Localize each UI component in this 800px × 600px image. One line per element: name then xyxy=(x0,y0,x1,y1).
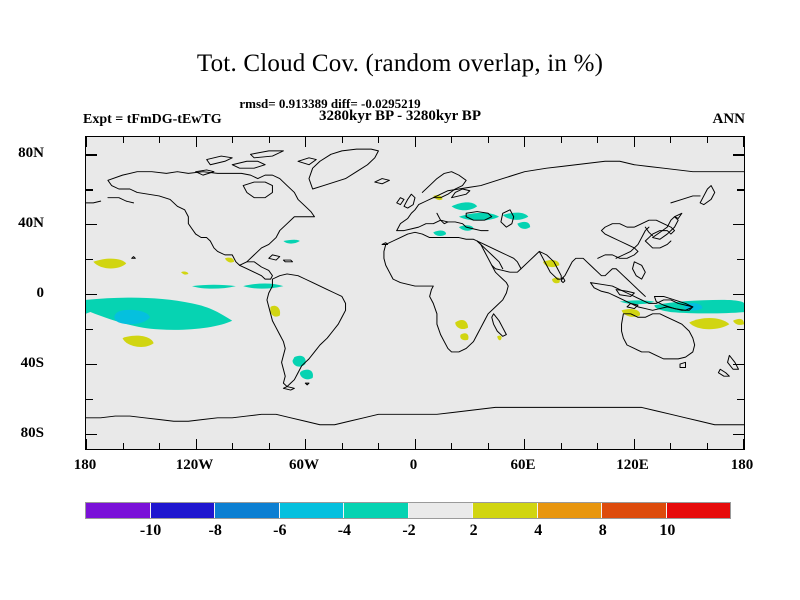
x-top-tick-160E xyxy=(707,137,708,143)
y-right-tick-60N xyxy=(737,189,744,190)
x-minor-tick-40W xyxy=(342,443,343,449)
period-label: 3280kyr BP - 3280kyr BP xyxy=(0,108,800,125)
figure-canvas: Tot. Cloud Cov. (random overlap, in %) r… xyxy=(0,0,800,600)
x-top-tick-60E xyxy=(524,137,525,147)
x-axis-label-180E: 180 xyxy=(697,458,787,473)
y-right-tick-40N xyxy=(733,224,744,225)
colorbar-segment-8[interactable] xyxy=(602,503,667,518)
y-axis-label-80S: 80S xyxy=(0,426,44,441)
colorbar-segment-1[interactable] xyxy=(151,503,216,518)
y-major-tick-0 xyxy=(86,294,97,295)
x-minor-tick-100E xyxy=(597,443,598,449)
colorbar-segment-7[interactable] xyxy=(538,503,603,518)
x-axis-label-180W: 180 xyxy=(40,458,130,473)
colorbar-label-neg2: -2 xyxy=(379,522,439,540)
colorbar-segment-5[interactable] xyxy=(409,503,474,518)
y-axis-label-0: 0 xyxy=(0,286,44,301)
x-minor-tick-140W xyxy=(159,443,160,449)
y-minor-tick-20S xyxy=(86,329,93,330)
x-axis-label-120E: 120E xyxy=(588,458,678,473)
y-right-tick-20S xyxy=(737,329,744,330)
x-minor-tick-20W xyxy=(378,443,379,449)
season-label: ANN xyxy=(713,111,746,128)
x-top-tick-60W xyxy=(305,137,306,147)
x-top-tick-140W xyxy=(159,137,160,143)
colorbar-label-neg10: -10 xyxy=(121,522,181,540)
colorbar-segment-6[interactable] xyxy=(473,503,538,518)
y-axis-label-40S: 40S xyxy=(0,356,44,371)
map-clip xyxy=(86,137,744,449)
x-major-tick-120W xyxy=(196,439,197,449)
colorbar-label-neg8: -8 xyxy=(185,522,245,540)
colorbar-label-pos10: 10 xyxy=(637,522,697,540)
colorbar-segment-9[interactable] xyxy=(667,503,731,518)
x-minor-tick-160W xyxy=(123,443,124,449)
x-top-tick-140E xyxy=(670,137,671,143)
y-major-tick-80N xyxy=(86,154,97,155)
y-axis-label-40N: 40N xyxy=(0,216,44,231)
x-top-tick-20E xyxy=(451,137,452,143)
x-minor-tick-140E xyxy=(670,443,671,449)
x-top-tick-80W xyxy=(269,137,270,143)
colorbar-segment-2[interactable] xyxy=(215,503,280,518)
colorbar-segment-4[interactable] xyxy=(344,503,409,518)
x-major-tick-180E xyxy=(743,439,744,449)
x-top-tick-160W xyxy=(123,137,124,143)
page-title: Tot. Cloud Cov. (random overlap, in %) xyxy=(0,50,800,78)
x-top-tick-120E xyxy=(634,137,635,147)
y-right-tick-0 xyxy=(733,294,744,295)
colorbar-label-pos2: 2 xyxy=(444,522,504,540)
y-major-tick-40S xyxy=(86,364,97,365)
x-major-tick-60W xyxy=(305,439,306,449)
colorbar-segment-3[interactable] xyxy=(280,503,345,518)
x-major-tick-120E xyxy=(634,439,635,449)
x-top-tick-100W xyxy=(232,137,233,143)
y-major-tick-80S xyxy=(86,434,97,435)
colorbar[interactable] xyxy=(85,502,731,519)
x-major-tick-0 xyxy=(415,439,416,449)
x-axis-label-120W: 120W xyxy=(150,458,240,473)
colorbar-label-pos4: 4 xyxy=(508,522,568,540)
colorbar-label-neg6: -6 xyxy=(250,522,310,540)
x-minor-tick-100W xyxy=(232,443,233,449)
y-right-tick-80N xyxy=(733,154,744,155)
colorbar-label-neg4: -4 xyxy=(314,522,374,540)
colorbar-label-pos8: 8 xyxy=(573,522,633,540)
x-top-tick-40E xyxy=(488,137,489,143)
x-top-tick-120W xyxy=(196,137,197,147)
x-major-tick-180W xyxy=(86,439,87,449)
colorbar-segment-0[interactable] xyxy=(86,503,151,518)
x-top-tick-100E xyxy=(597,137,598,143)
y-minor-tick-60N xyxy=(86,189,93,190)
x-top-tick-20W xyxy=(378,137,379,143)
y-major-tick-40N xyxy=(86,224,97,225)
x-top-tick-0 xyxy=(415,137,416,147)
y-right-tick-20N xyxy=(737,259,744,260)
y-right-tick-80S xyxy=(733,434,744,435)
x-top-tick-80E xyxy=(561,137,562,143)
x-major-tick-60E xyxy=(524,439,525,449)
x-minor-tick-160E xyxy=(707,443,708,449)
y-minor-tick-60S xyxy=(86,399,93,400)
x-axis-label-0: 0 xyxy=(369,458,459,473)
map-plot-area xyxy=(85,136,745,450)
x-minor-tick-80W xyxy=(269,443,270,449)
x-top-tick-180W xyxy=(86,137,87,147)
coastline-overlay xyxy=(86,137,744,449)
y-right-tick-60S xyxy=(737,399,744,400)
x-top-tick-40W xyxy=(342,137,343,143)
y-minor-tick-20N xyxy=(86,259,93,260)
x-minor-tick-80E xyxy=(561,443,562,449)
x-top-tick-180E xyxy=(743,137,744,147)
x-minor-tick-20E xyxy=(451,443,452,449)
x-axis-label-60W: 60W xyxy=(259,458,349,473)
y-axis-label-80N: 80N xyxy=(0,146,44,161)
x-axis-label-60E: 60E xyxy=(478,458,568,473)
x-minor-tick-40E xyxy=(488,443,489,449)
y-right-tick-40S xyxy=(733,364,744,365)
